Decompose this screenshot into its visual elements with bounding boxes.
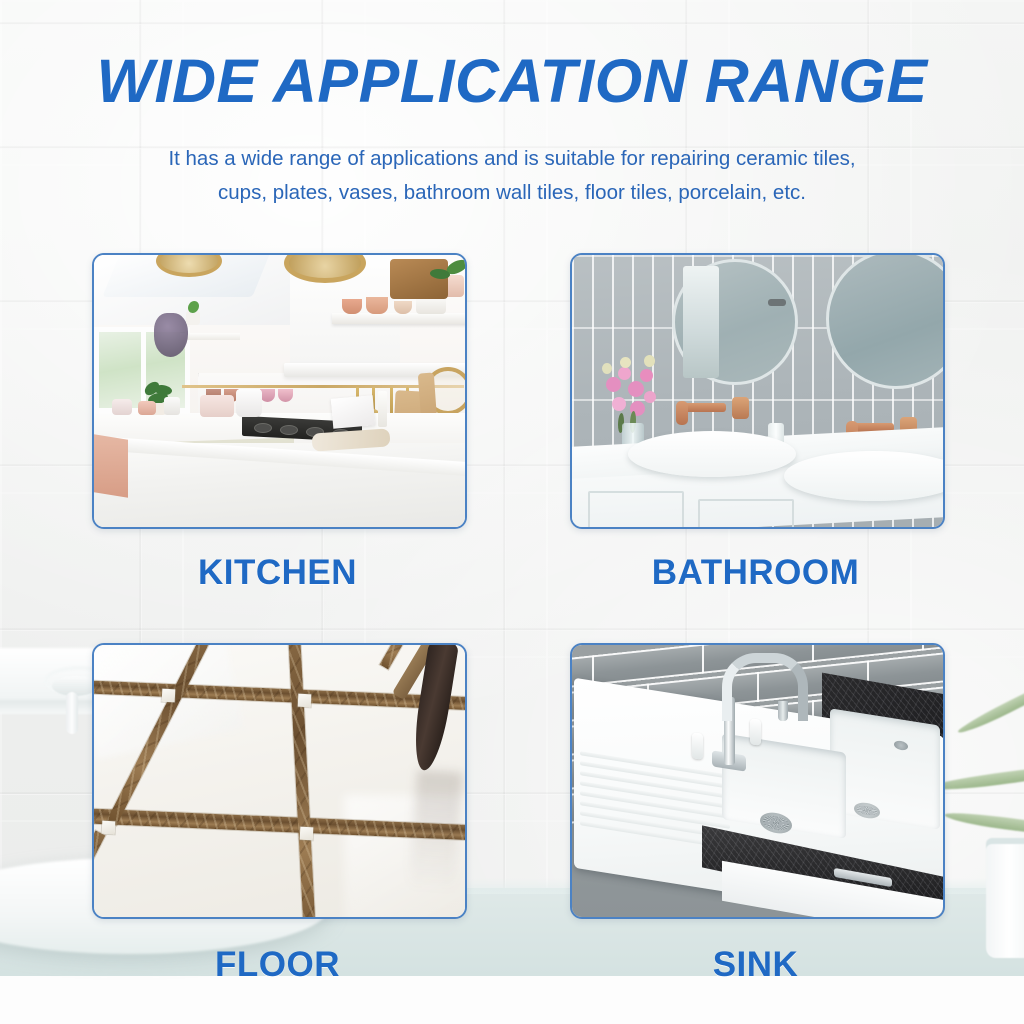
card-label-kitchen: KITCHEN [92,553,463,593]
floor-photo [94,645,465,917]
background-tap-spout [66,692,78,734]
kettle-icon [236,389,262,417]
page-title: WIDE APPLICATION RANGE [0,46,1024,116]
infographic-canvas: WIDE APPLICATION RANGE It has a wide ran… [0,0,1024,1024]
swan-neck-tap-icon [722,653,808,721]
card-label-floor: FLOOR [92,945,463,985]
sink-bowl-large [830,708,940,829]
subtitle-line-2: cups, plates, vases, bathroom wall tiles… [62,176,962,210]
tap-handle-icon [750,718,761,745]
application-card-floor[interactable] [92,643,467,919]
bathroom-photo [572,255,943,527]
tap-handle-icon [692,732,703,759]
framed-picture-icon [331,395,375,429]
tap-spout-icon [778,701,788,721]
tile-accent-square [162,689,176,703]
subtitle-line-1: It has a wide range of applications and … [62,142,962,176]
application-card-sink[interactable] [570,643,945,919]
flower-bouquet-icon [600,355,668,433]
tile-accent-square [102,821,116,835]
card-label-sink: SINK [570,945,941,985]
round-mirror-icon [672,259,798,385]
candle-icon [378,391,387,427]
ceramic-cup-prop [986,838,1024,958]
basin-icon [628,431,796,477]
sink-photo [572,645,943,917]
application-card-kitchen[interactable] [92,253,467,529]
page-subtitle: It has a wide range of applications and … [62,142,962,210]
tap-handle-icon [732,397,749,419]
toaster-icon [200,395,234,417]
kitchen-photo [94,255,465,527]
application-card-bathroom[interactable] [570,253,945,529]
card-label-bathroom: BATHROOM [570,553,941,593]
tile-accent-square [298,694,312,708]
tile-accent-square [300,827,314,841]
